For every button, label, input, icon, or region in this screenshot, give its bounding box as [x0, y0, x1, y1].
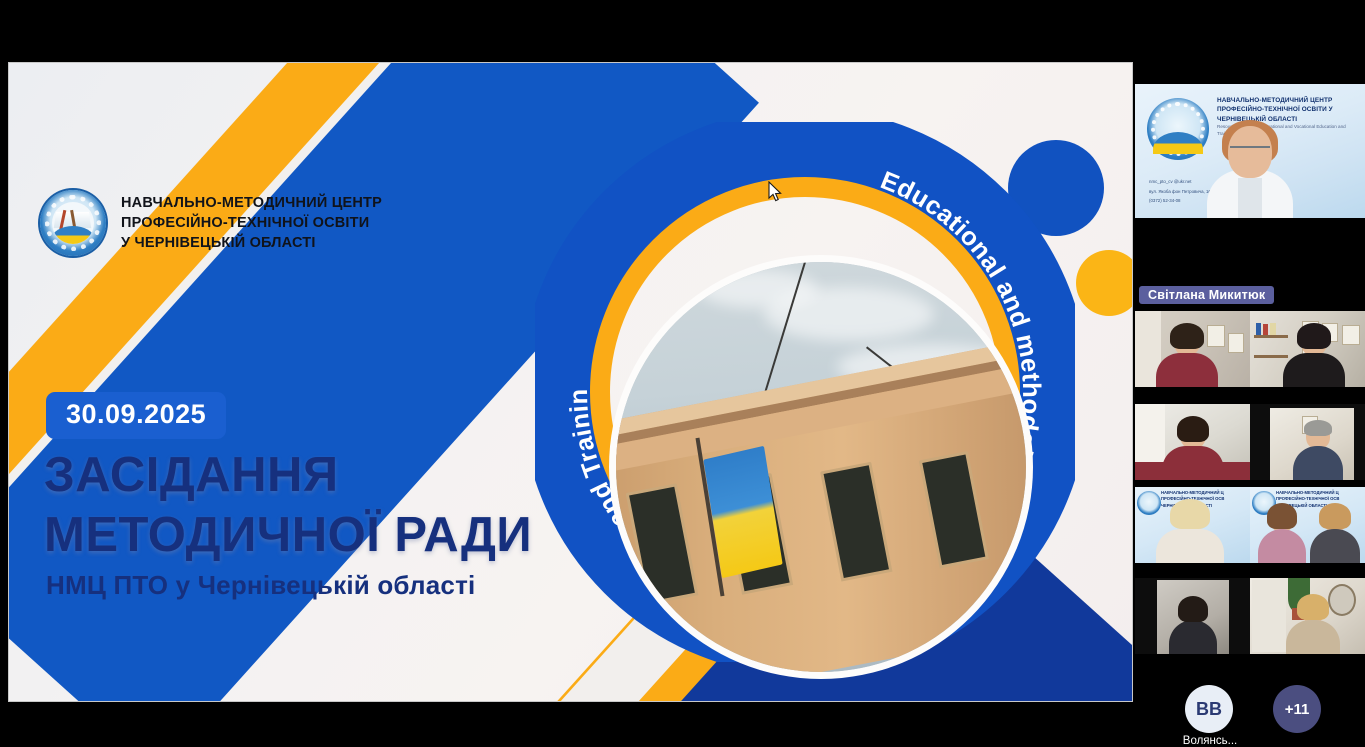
participant-tile[interactable]: Пшегодська Лі...	[1250, 578, 1365, 654]
participant-tile[interactable]: Ілля Хортюк	[1250, 404, 1365, 480]
meeting-screen: Educational and methodological center fo…	[0, 0, 1365, 747]
slide-title-line-1: ЗАСІДАННЯ	[44, 446, 532, 506]
participants-sidebar[interactable]: НАВЧАЛЬНО-МЕТОДИЧНИЙ ЦЕНТР ПРОФЕСІЙНО-ТЕ…	[1135, 0, 1365, 747]
slide-subtitle: НМЦ ПТО у Чернівецькій області	[46, 570, 475, 601]
participant-row-4: Оксана Кавнічук Пшегодська Лі...	[1135, 578, 1365, 654]
nmc-logo-icon-small	[1147, 98, 1209, 160]
vbg-org-title: НАВЧАЛЬНО-МЕТОДИЧНИЙ ЦЕНТР ПРОФЕСІЙНО-ТЕ…	[1217, 96, 1333, 124]
org-name-line-3: У ЧЕРНІВЕЦЬКІЙ ОБЛАСТІ	[121, 233, 382, 253]
participant-tile[interactable]: Ірина Палагнюк	[1250, 311, 1365, 387]
avatar[interactable]: ВВ	[1185, 685, 1233, 733]
participant-tile[interactable]: Оксана Кавнічук	[1135, 578, 1250, 654]
event-date-badge: 30.09.2025	[46, 392, 226, 439]
participant-tile[interactable]: НАВЧАЛЬНО-МЕТОДИЧНИЙ ЦПРОФЕСІЙНО-ТЕХНІЧН…	[1135, 487, 1250, 563]
participant-row-1: Наталія Голубяк Ірина Палагнюк	[1135, 311, 1365, 387]
vbg-title-line-1: НАВЧАЛЬНО-МЕТОДИЧНИЙ ЦЕНТР	[1217, 96, 1333, 105]
org-name-line-2: ПРОФЕСІЙНО-ТЕХНІЧНОЇ ОСВІТИ	[121, 213, 382, 233]
org-name-line-1: НАВЧАЛЬНО-МЕТОДИЧНИЙ ЦЕНТР	[121, 193, 382, 213]
participant-tile[interactable]: Ткач Наталія Д...	[1135, 404, 1250, 480]
slide-title: ЗАСІДАННЯ МЕТОДИЧНОЇ РАДИ	[44, 446, 532, 566]
avatar-label: Волянсь...	[1175, 735, 1245, 747]
nmc-logo-icon	[40, 190, 106, 256]
shared-slide[interactable]: Educational and methodological center fo…	[8, 62, 1133, 702]
participant-tile-main[interactable]: НАВЧАЛЬНО-МЕТОДИЧНИЙ ЦЕНТР ПРОФЕСІЙНО-ТЕ…	[1135, 84, 1365, 218]
building-photo	[616, 262, 1026, 672]
speaker-video-figure	[1207, 122, 1293, 218]
overflow-participants-badge[interactable]: +11	[1273, 685, 1321, 733]
slide-title-line-2: МЕТОДИЧНОЇ РАДИ	[44, 506, 532, 566]
slide-org-header: НАВЧАЛЬНО-МЕТОДИЧНИЙ ЦЕНТР ПРОФЕСІЙНО-ТЕ…	[40, 190, 382, 256]
avatar-row: ВВ Волянсь... +11	[1135, 677, 1365, 747]
mouse-cursor	[768, 181, 784, 203]
participant-row-3: НАВЧАЛЬНО-МЕТОДИЧНИЙ ЦПРОФЕСІЙНО-ТЕХНІЧН…	[1135, 487, 1365, 563]
participant-row-2: Ткач Наталія Д... Ілля Хортюк	[1135, 404, 1365, 480]
active-speaker-label: Світлана Микитюк	[1139, 286, 1274, 304]
participant-tile[interactable]: НАВЧАЛЬНО-МЕТОДИЧНИЙ ЦПРОФЕСІЙНО-ТЕХНІЧН…	[1250, 487, 1365, 563]
decor-circle-orange	[1076, 250, 1133, 316]
vbg-title-line-2: ПРОФЕСІЙНО-ТЕХНІЧНОЇ ОСВІТИ У	[1217, 105, 1333, 114]
org-name-text: НАВЧАЛЬНО-МЕТОДИЧНИЙ ЦЕНТР ПРОФЕСІЙНО-ТЕ…	[121, 193, 382, 253]
participant-tile[interactable]: Наталія Голубяк	[1135, 311, 1250, 387]
